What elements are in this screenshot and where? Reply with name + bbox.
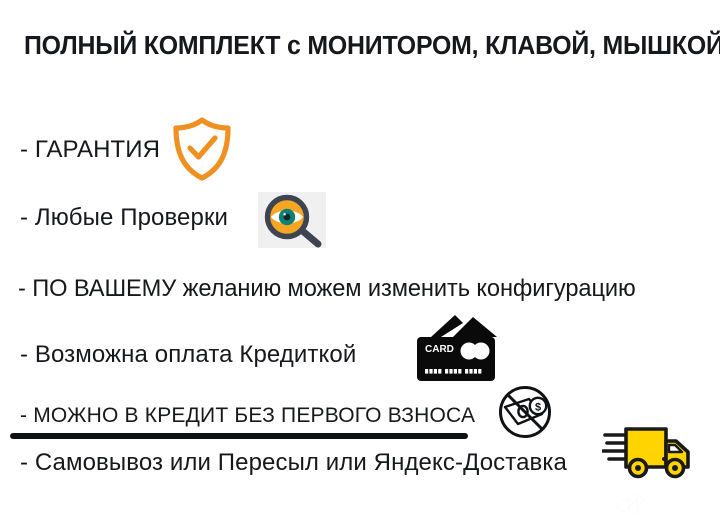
delivery-truck-icon — [602, 421, 694, 481]
feature-custom-configuration: - ПО ВАШЕМУ желанию можем изменить конфи… — [18, 276, 636, 303]
shield-check-icon — [170, 116, 234, 182]
dollar-symbol-text: $ — [535, 401, 541, 413]
feature-any-checks: - Любые Проверки — [20, 205, 228, 232]
magnifier-eye-icon — [258, 192, 326, 248]
credit-card-icon: CARD 0000 0000 0000 0000 — [411, 315, 499, 383]
emphasis-underline-bar — [10, 433, 468, 439]
avito-watermark-text: Avito — [644, 492, 700, 516]
avito-logo-icon — [618, 492, 643, 516]
avito-listing-image: ПОЛНЫЙ КОМПЛЕКТ с МОНИТОРОМ, КЛАВОЙ, МЫШ… — [0, 0, 720, 531]
listing-title: ПОЛНЫЙ КОМПЛЕКТ с МОНИТОРОМ, КЛАВОЙ, МЫШ… — [24, 32, 689, 60]
feature-delivery-options: - Самовывоз или Пересыл или Яндекс-Доста… — [20, 450, 567, 477]
card-label-text: CARD — [425, 344, 454, 355]
feature-credit-card-payment: - Возможна оплата Кредиткой — [20, 342, 356, 369]
feature-credit-no-downpayment: - МОЖНО В КРЕДИТ БЕЗ ПЕРВОГО ВЗНОСА — [20, 404, 475, 428]
feature-guarantee: - ГАРАНТИЯ — [20, 137, 160, 164]
avito-watermark: Avito — [618, 489, 710, 519]
no-cash-icon: $ — [496, 386, 556, 440]
